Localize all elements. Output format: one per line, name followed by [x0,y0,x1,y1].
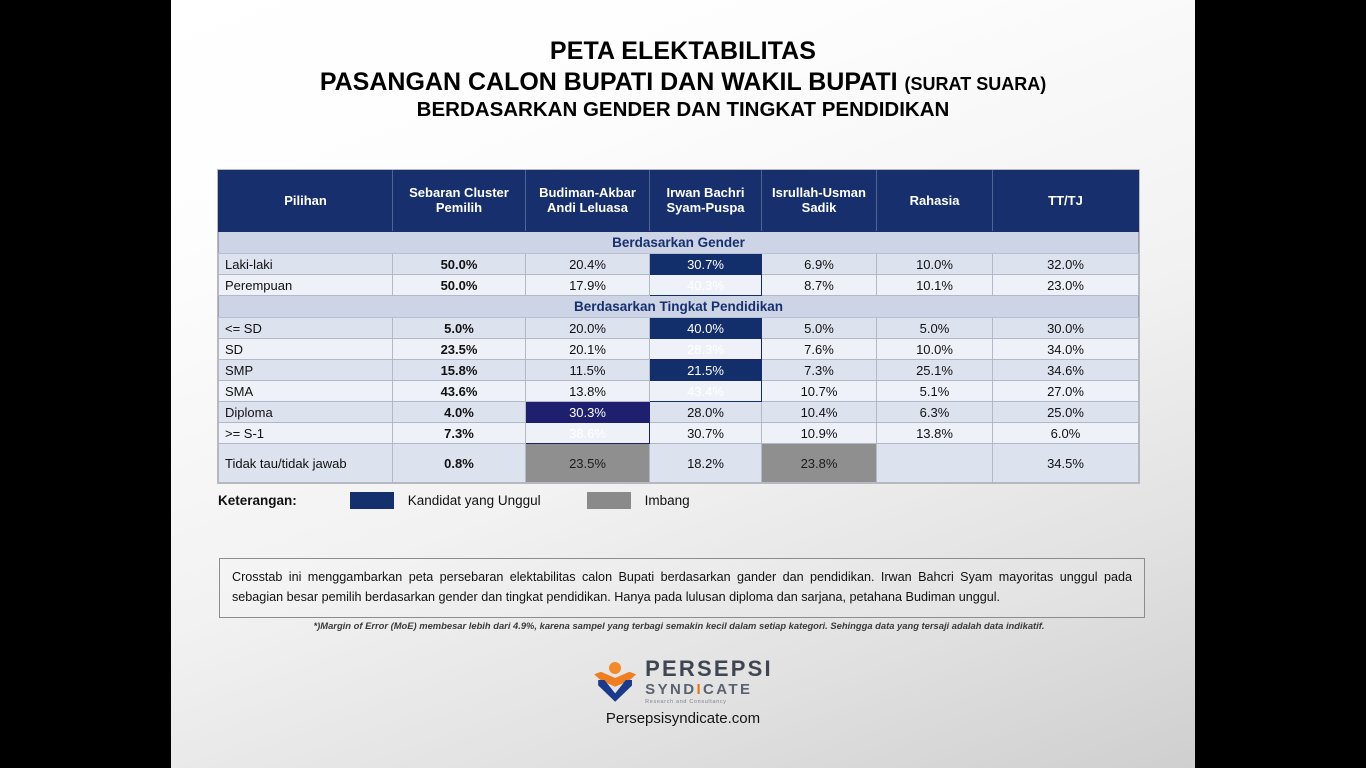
cell-tttj: 6.0% [993,423,1139,444]
cell-isrullah: 10.7% [762,381,877,402]
table-row: <= SD 5.0% 20.0% 40.0% 5.0% 5.0% 30.0% [219,318,1139,339]
table-row: Laki-laki 50.0% 20.4% 30.7% 6.9% 10.0% 3… [219,254,1139,275]
cell-sebaran: 43.6% [393,381,526,402]
cell-sebaran: 7.3% [393,423,526,444]
cell-budiman: 23.5% [526,444,650,483]
brand-logo: PERSEPSI SYNDICATE Research and Consulta… [171,658,1195,705]
cell-rahasia: 10.1% [877,275,993,296]
cell-isrullah: 8.7% [762,275,877,296]
table-body: Berdasarkan Gender Laki-laki 50.0% 20.4%… [219,232,1139,483]
legend-text-winner: Kandidat yang Unggul [408,493,541,508]
logo-head-shape [609,662,621,674]
column-header-tttj: TT/TJ [993,171,1139,232]
cell-tttj: 23.0% [993,275,1139,296]
cell-irwan: 30.7% [650,254,762,275]
cell-rahasia: 10.0% [877,254,993,275]
legend-label: Keterangan: [218,493,297,508]
cell-sebaran: 4.0% [393,402,526,423]
cell-tttj: 34.5% [993,444,1139,483]
title-line-2-main: PASANGAN CALON BUPATI DAN WAKIL BUPATI [320,68,905,96]
cell-isrullah: 5.0% [762,318,877,339]
title-line-3: BERDASARKAN GENDER DAN TINGKAT PENDIDIKA… [171,97,1195,122]
description-box: Crosstab ini menggambarkan peta persebar… [219,558,1145,618]
table-row: SMA 43.6% 13.8% 43.4% 10.7% 5.1% 27.0% [219,381,1139,402]
section-header-row: Berdasarkan Tingkat Pendidikan [219,296,1139,318]
cell-budiman: 38.6% [526,423,650,444]
cell-budiman: 30.3% [526,402,650,423]
table-row: Tidak tau/tidak jawab 0.8% 23.5% 18.2% 2… [219,444,1139,483]
row-label: Tidak tau/tidak jawab [219,444,393,483]
section-header-row: Berdasarkan Gender [219,232,1139,254]
column-header-isrullah: Isrullah-Usman Sadik [762,171,877,232]
cell-sebaran: 0.8% [393,444,526,483]
cell-isrullah: 23.8% [762,444,877,483]
cell-budiman: 20.0% [526,318,650,339]
website-url: Persepsisyndicate.com [171,710,1195,727]
title-line-2: PASANGAN CALON BUPATI DAN WAKIL BUPATI (… [171,67,1195,98]
cell-irwan: 30.7% [650,423,762,444]
logo-subname-part1: SYND [645,681,696,698]
section-title-pendidikan: Berdasarkan Tingkat Pendidikan [219,296,1139,318]
cell-budiman: 20.4% [526,254,650,275]
table-header: Pilihan Sebaran Cluster Pemilih Budiman-… [219,171,1139,232]
row-label: SD [219,339,393,360]
persepsi-logo-icon [593,661,637,703]
cell-sebaran: 15.8% [393,360,526,381]
row-label: Diploma [219,402,393,423]
section-title-gender: Berdasarkan Gender [219,232,1139,254]
legend-text-tie: Imbang [645,493,690,508]
cell-isrullah: 10.4% [762,402,877,423]
row-label: <= SD [219,318,393,339]
table-row: Diploma 4.0% 30.3% 28.0% 10.4% 6.3% 25.0… [219,402,1139,423]
logo-subname: SYNDICATE [645,682,773,697]
title-line-1: PETA ELEKTABILITAS [171,36,1195,67]
cell-tttj: 30.0% [993,318,1139,339]
column-header-irwan: Irwan Bachri Syam-Puspa [650,171,762,232]
column-header-budiman: Budiman-Akbar Andi Leluasa [526,171,650,232]
column-header-sebaran: Sebaran Cluster Pemilih [393,171,526,232]
cell-tttj: 32.0% [993,254,1139,275]
slide-stage: PETA ELEKTABILITAS PASANGAN CALON BUPATI… [0,0,1366,768]
logo-wordmark: PERSEPSI SYNDICATE Research and Consulta… [645,658,773,705]
cell-irwan: 28.0% [650,402,762,423]
cell-irwan: 28.3% [650,339,762,360]
cell-sebaran: 5.0% [393,318,526,339]
table-row: SD 23.5% 20.1% 28.3% 7.6% 10.0% 34.0% [219,339,1139,360]
row-label: Perempuan [219,275,393,296]
footnote-margin-of-error: *)Margin of Error (MoE) membesar lebih d… [219,620,1139,631]
cell-rahasia: 6.3% [877,402,993,423]
legend-swatch-winner [350,492,394,509]
column-header-pilihan: Pilihan [219,171,393,232]
row-label: >= S-1 [219,423,393,444]
crosstab-table-wrapper: Pilihan Sebaran Cluster Pemilih Budiman-… [218,170,1138,483]
presentation-slide: PETA ELEKTABILITAS PASANGAN CALON BUPATI… [171,0,1195,768]
cell-irwan: 40.3% [650,275,762,296]
crosstab-table: Pilihan Sebaran Cluster Pemilih Budiman-… [218,170,1139,483]
cell-tttj: 27.0% [993,381,1139,402]
cell-budiman: 17.9% [526,275,650,296]
logo-name: PERSEPSI [645,658,773,680]
cell-irwan: 18.2% [650,444,762,483]
cell-sebaran: 23.5% [393,339,526,360]
cell-rahasia: 25.1% [877,360,993,381]
cell-rahasia: 10.0% [877,339,993,360]
cell-budiman: 11.5% [526,360,650,381]
cell-tttj: 34.6% [993,360,1139,381]
table-row: Perempuan 50.0% 17.9% 40.3% 8.7% 10.1% 2… [219,275,1139,296]
cell-tttj: 25.0% [993,402,1139,423]
cell-isrullah: 7.6% [762,339,877,360]
legend-swatch-tie [587,492,631,509]
cell-irwan: 21.5% [650,360,762,381]
cell-irwan: 40.0% [650,318,762,339]
page-title: PETA ELEKTABILITAS PASANGAN CALON BUPATI… [171,36,1195,122]
row-label: Laki-laki [219,254,393,275]
cell-rahasia: 5.1% [877,381,993,402]
cell-rahasia: 13.8% [877,423,993,444]
cell-budiman: 13.8% [526,381,650,402]
cell-rahasia [877,444,993,483]
column-header-rahasia: Rahasia [877,171,993,232]
row-label: SMA [219,381,393,402]
row-label: SMP [219,360,393,381]
cell-irwan: 43.4% [650,381,762,402]
cell-tttj: 34.0% [993,339,1139,360]
cell-budiman: 20.1% [526,339,650,360]
cell-sebaran: 50.0% [393,254,526,275]
cell-isrullah: 10.9% [762,423,877,444]
cell-rahasia: 5.0% [877,318,993,339]
logo-subname-part2: CATE [703,681,752,698]
legend: Keterangan: Kandidat yang Unggul Imbang [218,492,690,509]
logo-tagline: Research and Consultancy [645,700,773,705]
table-row: >= S-1 7.3% 38.6% 30.7% 10.9% 13.8% 6.0% [219,423,1139,444]
table-row: SMP 15.8% 11.5% 21.5% 7.3% 25.1% 34.6% [219,360,1139,381]
cell-isrullah: 7.3% [762,360,877,381]
title-line-2-small: (SURAT SUARA) [905,74,1047,94]
table-header-row: Pilihan Sebaran Cluster Pemilih Budiman-… [219,171,1139,232]
cell-isrullah: 6.9% [762,254,877,275]
cell-sebaran: 50.0% [393,275,526,296]
